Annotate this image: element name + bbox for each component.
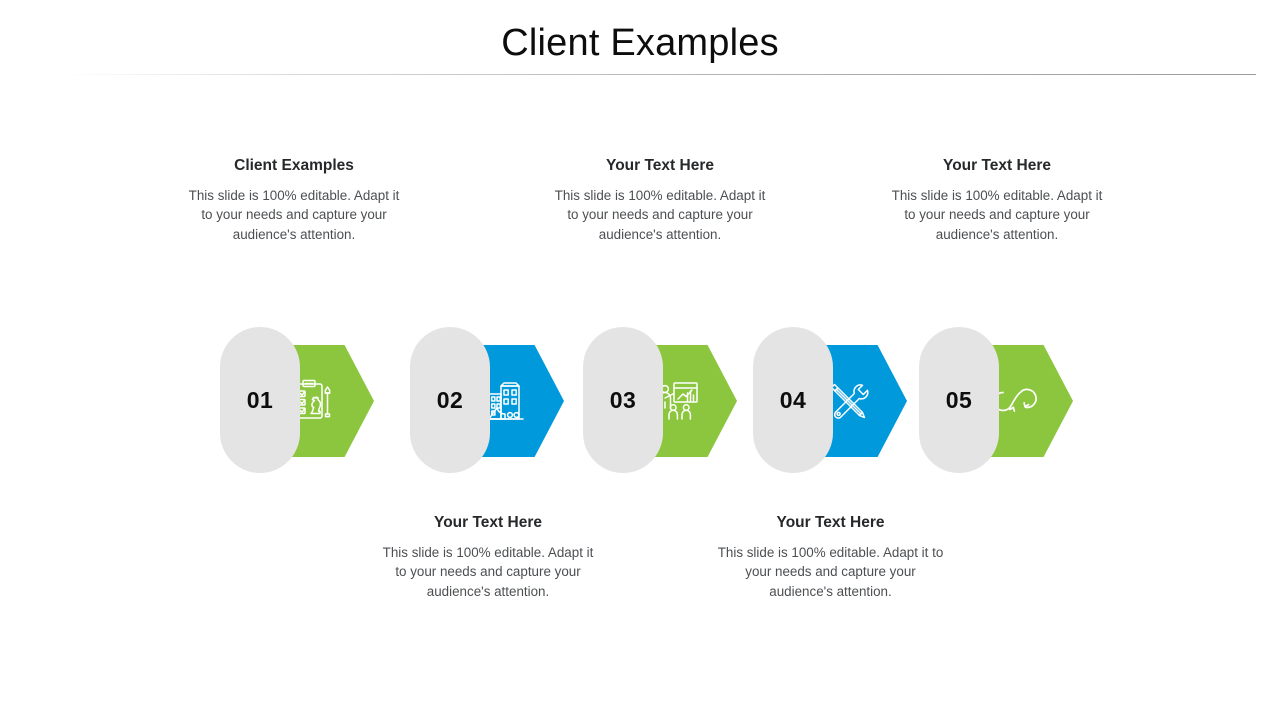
bottom-text-heading-2: Your Text Here bbox=[716, 513, 945, 533]
process-step-4[interactable]: 04 bbox=[753, 327, 907, 477]
top-text-heading-2: Your Text Here bbox=[549, 156, 771, 176]
process-steps-row: 01 bbox=[0, 327, 1280, 477]
step-capsule-3: 03 bbox=[583, 327, 663, 473]
top-text-block-3: Your Text Here This slide is 100% editab… bbox=[886, 156, 1108, 244]
top-text-heading-1: Client Examples bbox=[183, 156, 405, 176]
bottom-text-body-1: This slide is 100% editable. Adapt it to… bbox=[377, 543, 599, 601]
bottom-text-block-1: Your Text Here This slide is 100% editab… bbox=[377, 513, 599, 601]
step-number-1: 01 bbox=[247, 387, 274, 414]
process-step-1[interactable]: 01 bbox=[220, 327, 374, 477]
process-step-3[interactable]: 03 bbox=[583, 327, 737, 477]
title-divider bbox=[64, 74, 1256, 75]
top-text-body-1: This slide is 100% editable. Adapt it to… bbox=[183, 186, 405, 244]
slide-canvas: Client Examples Client Examples This sli… bbox=[0, 0, 1280, 720]
process-step-2[interactable]: 02 bbox=[410, 327, 564, 477]
step-number-4: 04 bbox=[780, 387, 807, 414]
step-number-3: 03 bbox=[610, 387, 637, 414]
bottom-text-heading-1: Your Text Here bbox=[377, 513, 599, 533]
top-text-block-1: Client Examples This slide is 100% edita… bbox=[183, 156, 405, 244]
step-number-5: 05 bbox=[946, 387, 973, 414]
bottom-text-body-2: This slide is 100% editable. Adapt it to… bbox=[716, 543, 945, 601]
top-text-body-3: This slide is 100% editable. Adapt it to… bbox=[886, 186, 1108, 244]
top-text-body-2: This slide is 100% editable. Adapt it to… bbox=[549, 186, 771, 244]
step-capsule-5: 05 bbox=[919, 327, 999, 473]
top-text-block-2: Your Text Here This slide is 100% editab… bbox=[549, 156, 771, 244]
step-number-2: 02 bbox=[437, 387, 464, 414]
page-title: Client Examples bbox=[0, 20, 1280, 66]
step-capsule-2: 02 bbox=[410, 327, 490, 473]
bottom-text-block-2: Your Text Here This slide is 100% editab… bbox=[716, 513, 945, 601]
process-step-5[interactable]: 05 bbox=[919, 327, 1073, 477]
step-capsule-1: 01 bbox=[220, 327, 300, 473]
top-text-heading-3: Your Text Here bbox=[886, 156, 1108, 176]
step-capsule-4: 04 bbox=[753, 327, 833, 473]
